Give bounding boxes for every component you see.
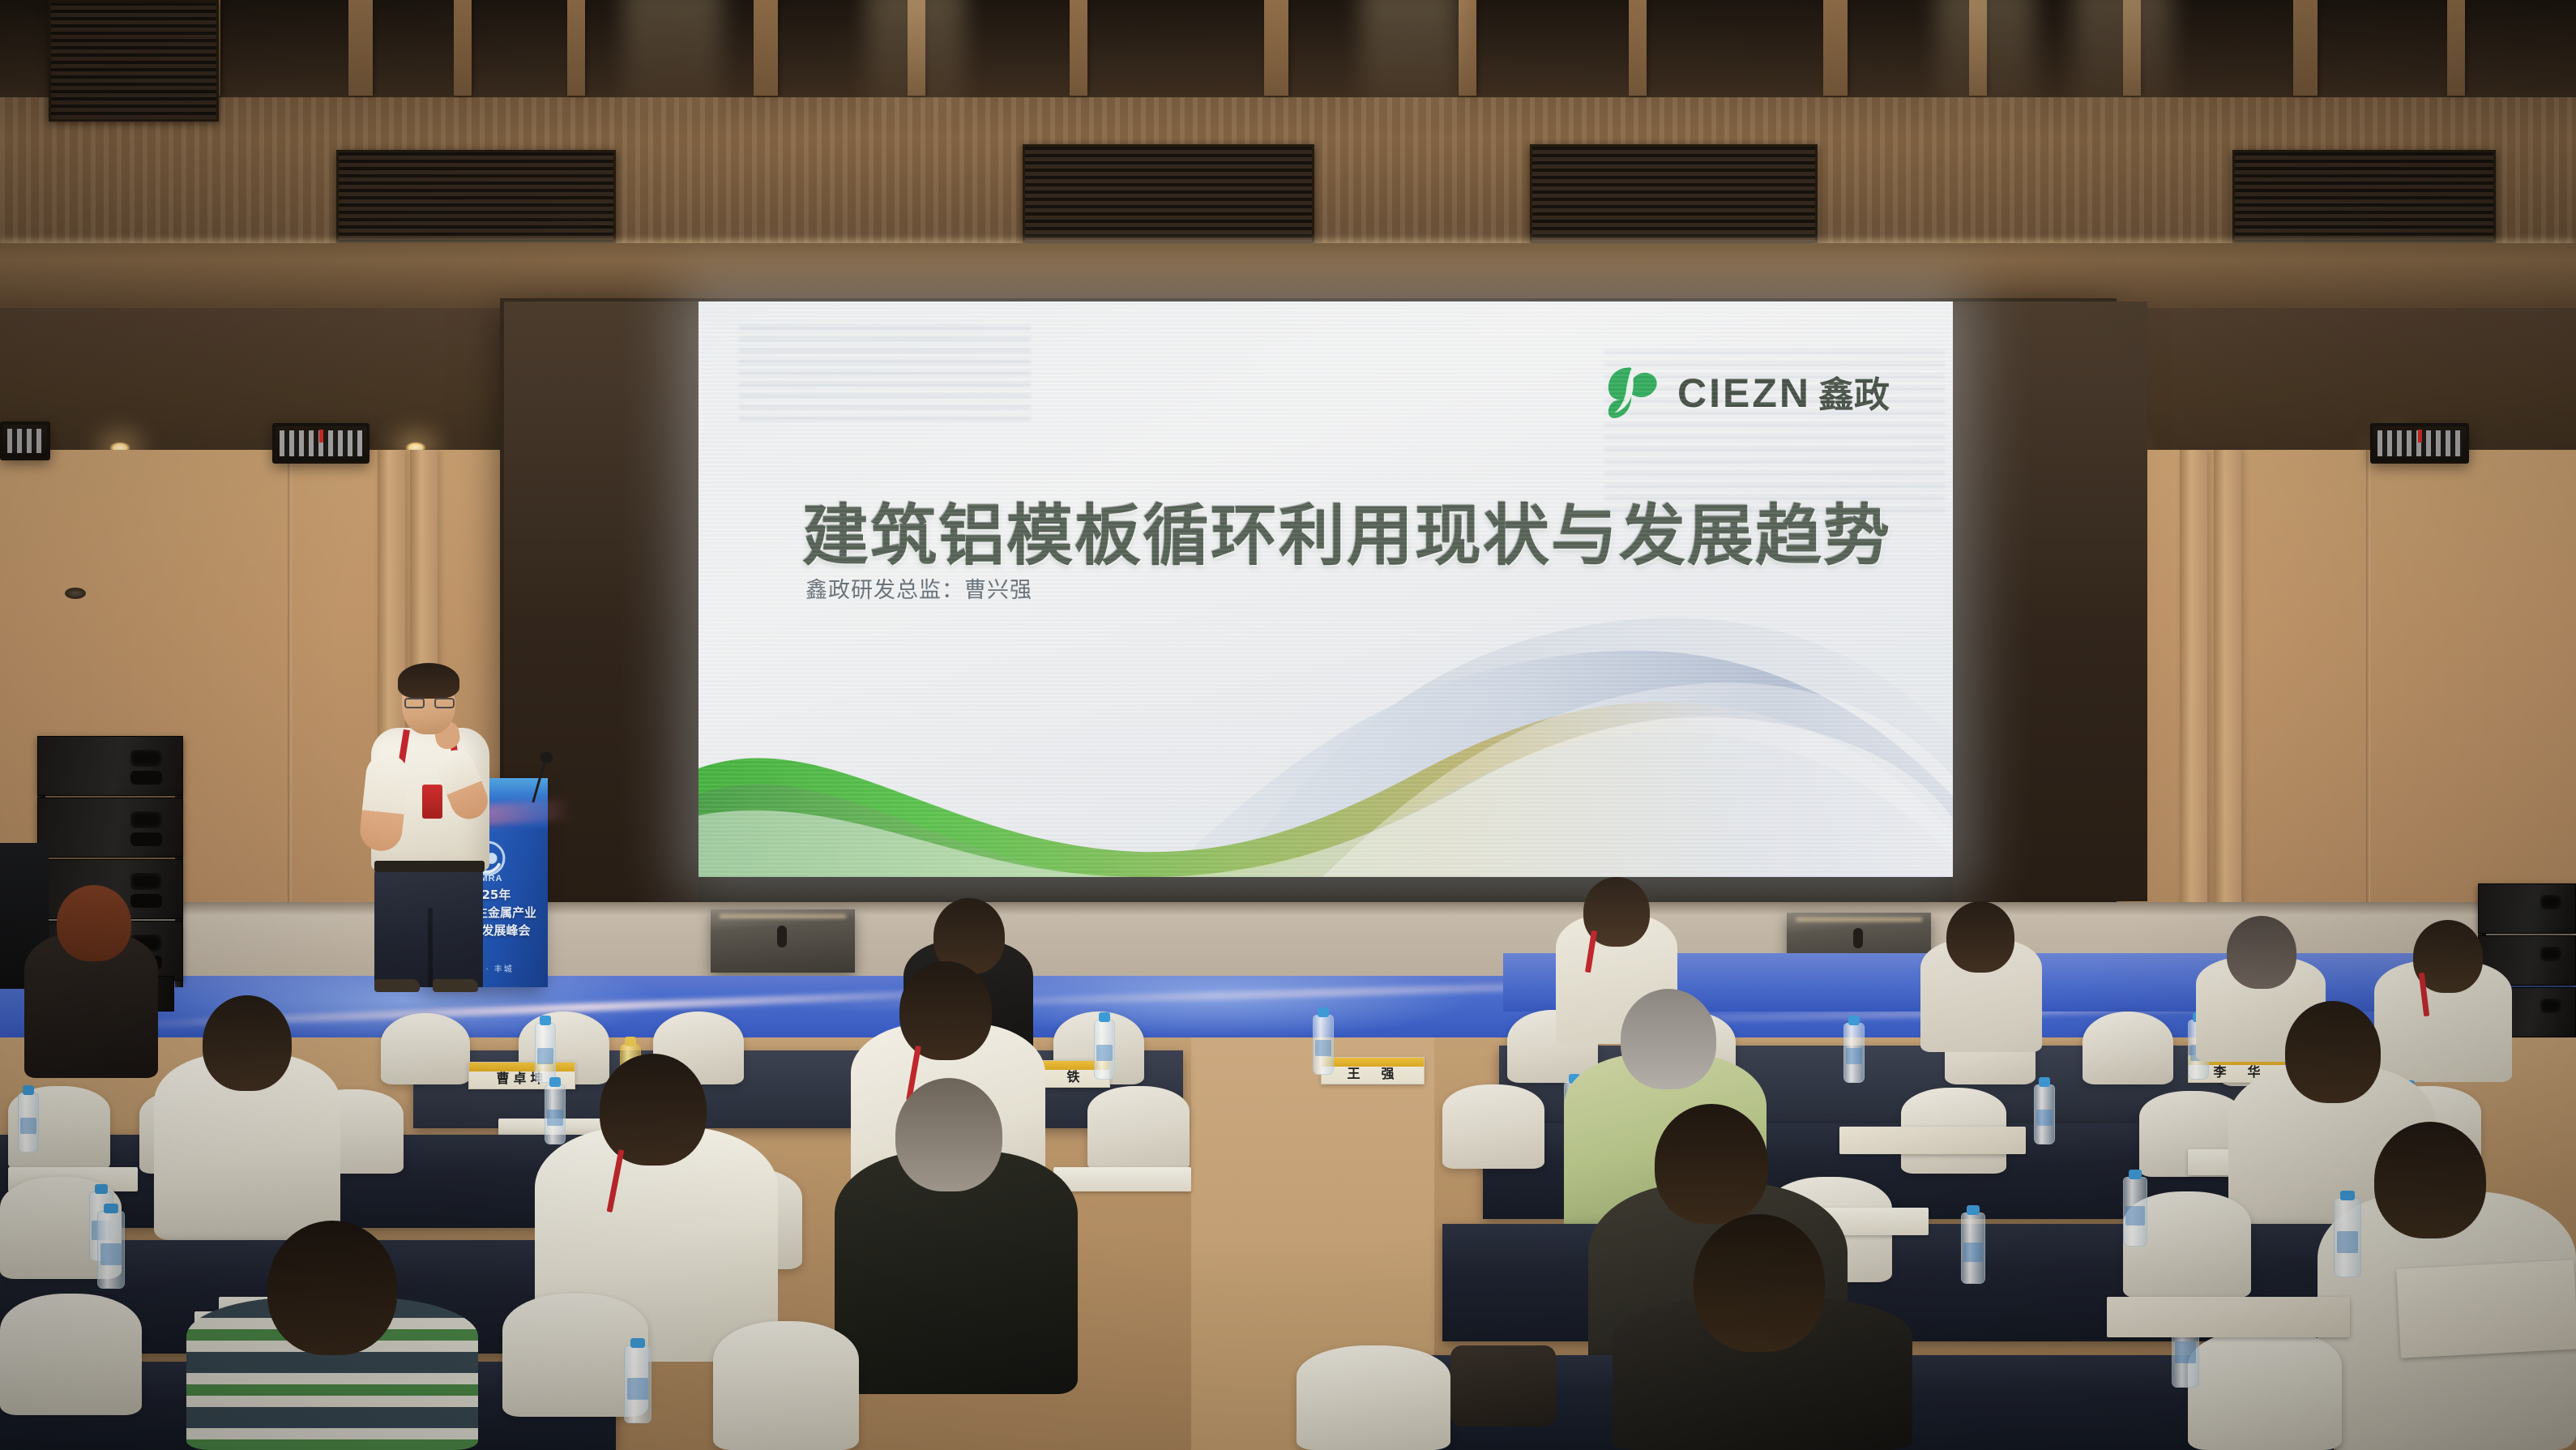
slide-title: 建筑铝模板循环利用现状与发展趋势 [802,481,1891,578]
smoke-detector-icon [65,588,86,599]
chair [2188,1329,2342,1450]
name-placard: 王 强 [1321,1057,1425,1084]
light-cone [2074,0,2172,122]
water-bottle [2334,1198,2361,1277]
wall-vent-panel [2370,423,2469,464]
presenter-badge [422,785,442,819]
ceiling-beam [348,0,373,96]
water-bottle [18,1093,39,1153]
water-bottle [1843,1023,1865,1083]
booklet [1839,1127,2026,1154]
attendee-head [899,961,992,1060]
light-cone [867,0,964,122]
attendee-head [203,995,292,1091]
chair [1087,1086,1190,1170]
ceiling-beam [1823,0,1848,96]
light-cone [1361,0,1459,122]
chair [2083,1012,2173,1084]
attendee-head [1655,1104,1768,1224]
ceiling-beam [1264,0,1288,96]
attendee-head [1946,901,2014,973]
ciezn-logo: CIEZN 鑫政 [1601,361,1890,421]
stage-monitor-speaker [711,909,855,973]
wall-vent-panel [272,423,370,464]
attendee-head [267,1221,397,1355]
booklet [2396,1260,2576,1358]
attendee-head [2374,1122,2486,1238]
slide-texture-topleft [739,326,1031,427]
wall-vent-panel [0,421,50,460]
water-bottle [535,1023,556,1083]
bag [1450,1345,1556,1426]
presentation-slide: CIEZN 鑫政 建筑铝模板循环利用现状与发展趋势 鑫政研发总监：曹兴强 [698,302,1953,877]
chair [0,1294,142,1415]
attendee-head [600,1054,707,1166]
attendee-head [1621,989,1716,1089]
water-bottle [1961,1213,1985,1284]
led-wall-right-bezel [1953,302,2147,901]
chair [713,1321,859,1450]
attendee-head [2227,916,2296,989]
ceiling-beam [2293,0,2318,96]
ceiling-beam [1629,0,1647,96]
water-bottle [624,1345,651,1423]
attendee-head [57,885,131,961]
ceiling-beam [454,0,472,96]
water-bottle [2034,1084,2055,1144]
document [1053,1167,1191,1191]
water-bottle [2123,1177,2147,1247]
glasses-icon [404,698,455,708]
light-cone [1937,0,2034,122]
ceiling-beam [2447,0,2465,96]
attendee-head [895,1078,1002,1191]
placard-name: 王 强 [1347,1067,1398,1084]
ceiling-beam [1070,0,1087,96]
water-bottle [1094,1020,1115,1080]
ceiling-vent [49,0,219,122]
ceiling-beam [754,0,778,96]
ciezn-pinwheel-logo-icon [1601,361,1661,421]
water-bottle [1313,1015,1334,1075]
attendee-head [1694,1214,1825,1352]
light-cone [624,0,721,122]
ceiling-beam [567,0,585,96]
conference-hall-photo: CIEZN 鑫政 建筑铝模板循环利用现状与发展趋势 鑫政研发总监：曹兴强 [0,0,2576,1450]
booklet [2107,1297,2350,1337]
chair [381,1013,470,1084]
logo-en-text: CIEZN [1677,370,1811,417]
water-bottle [545,1084,566,1144]
chair [1297,1345,1450,1450]
attendee-head [2285,1001,2381,1103]
slide-wave-graphic [698,618,1953,877]
logo-cn-text: 鑫政 [1818,366,1890,417]
slide-subtitle: 鑫政研发总监：曹兴强 [805,572,1032,604]
water-bottle [97,1211,125,1289]
ceiling-beam [1459,0,1476,96]
chair [1442,1084,1544,1169]
